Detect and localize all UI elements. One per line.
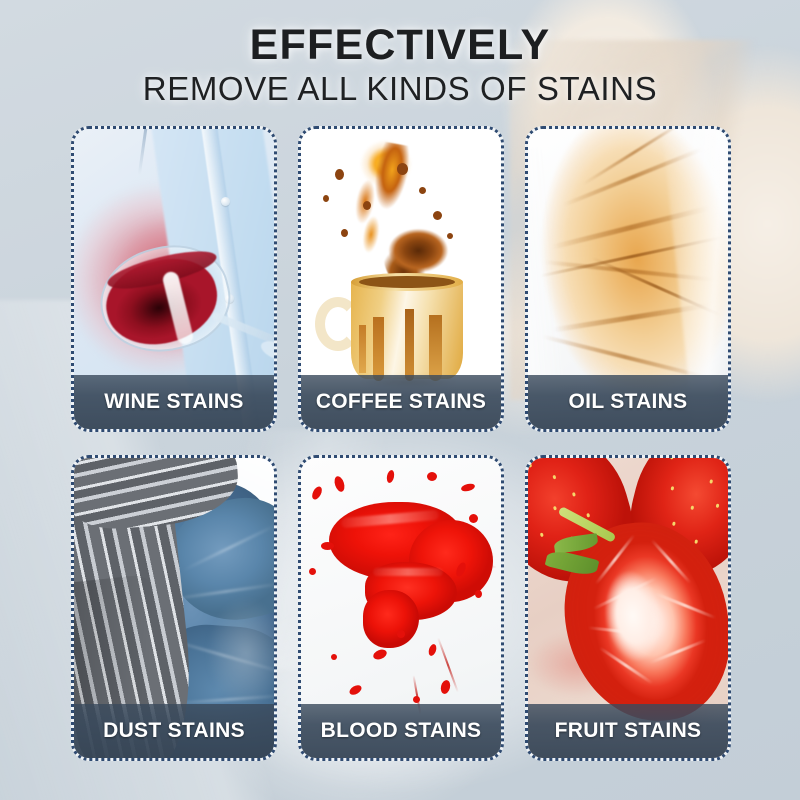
coffee-drip	[373, 317, 384, 381]
coffee-label-bar: COFFEE STAINS	[301, 375, 501, 429]
blood-splatter	[321, 542, 334, 550]
stain-card-fruit[interactable]: FRUIT STAINS	[525, 455, 731, 761]
blood-label-text: BLOOD STAINS	[321, 719, 482, 743]
stain-card-coffee[interactable]: COFFEE STAINS	[298, 126, 504, 432]
page-title: EFFECTIVELY REMOVE ALL KINDS OF STAINS	[0, 24, 800, 107]
title-line-primary: EFFECTIVELY	[0, 24, 800, 68]
coffee-droplet	[363, 201, 371, 210]
dust-label-text: DUST STAINS	[103, 719, 245, 743]
oil-label-text: OIL STAINS	[569, 390, 688, 414]
blood-label-bar: BLOOD STAINS	[301, 704, 501, 758]
wine-label-bar: WINE STAINS	[74, 375, 274, 429]
coffee-droplet	[433, 211, 442, 220]
stain-poster: EFFECTIVELY REMOVE ALL KINDS OF STAINS	[0, 0, 800, 800]
coffee-label-text: COFFEE STAINS	[316, 390, 486, 414]
blood-highlight	[373, 568, 443, 576]
blood-splatter	[427, 472, 437, 481]
oil-label-bar: OIL STAINS	[528, 375, 728, 429]
coffee-droplet	[335, 169, 344, 180]
coffee-droplet	[447, 233, 453, 239]
fruit-label-text: FRUIT STAINS	[555, 719, 702, 743]
coffee-drip	[429, 315, 442, 381]
mug-interior	[359, 276, 455, 288]
blood-splatter	[331, 654, 337, 660]
coffee-droplet	[341, 229, 348, 237]
wine-label-text: WINE STAINS	[104, 390, 243, 414]
coffee-drip	[405, 309, 414, 381]
stain-card-oil[interactable]: OIL STAINS	[525, 126, 731, 432]
stain-card-wine[interactable]: WINE STAINS	[71, 126, 277, 432]
coffee-droplet	[397, 163, 408, 175]
blood-splatter	[309, 568, 316, 575]
stain-card-dust[interactable]: DUST STAINS	[71, 455, 277, 761]
blood-splatter	[397, 630, 405, 638]
stain-card-blood[interactable]: BLOOD STAINS	[298, 455, 504, 761]
blood-blob	[363, 590, 419, 648]
coffee-droplet	[323, 195, 329, 202]
coffee-drip	[359, 325, 366, 373]
blood-splatter	[475, 590, 482, 598]
blood-splatter	[469, 514, 478, 523]
blood-splatter	[413, 696, 420, 703]
coffee-droplet	[419, 187, 426, 194]
title-line-secondary: REMOVE ALL KINDS OF STAINS	[0, 72, 800, 107]
shirt-button	[221, 197, 230, 206]
dust-label-bar: DUST STAINS	[74, 704, 274, 758]
fruit-label-bar: FRUIT STAINS	[528, 704, 728, 758]
stain-card-grid: WINE STAINS	[71, 126, 731, 761]
